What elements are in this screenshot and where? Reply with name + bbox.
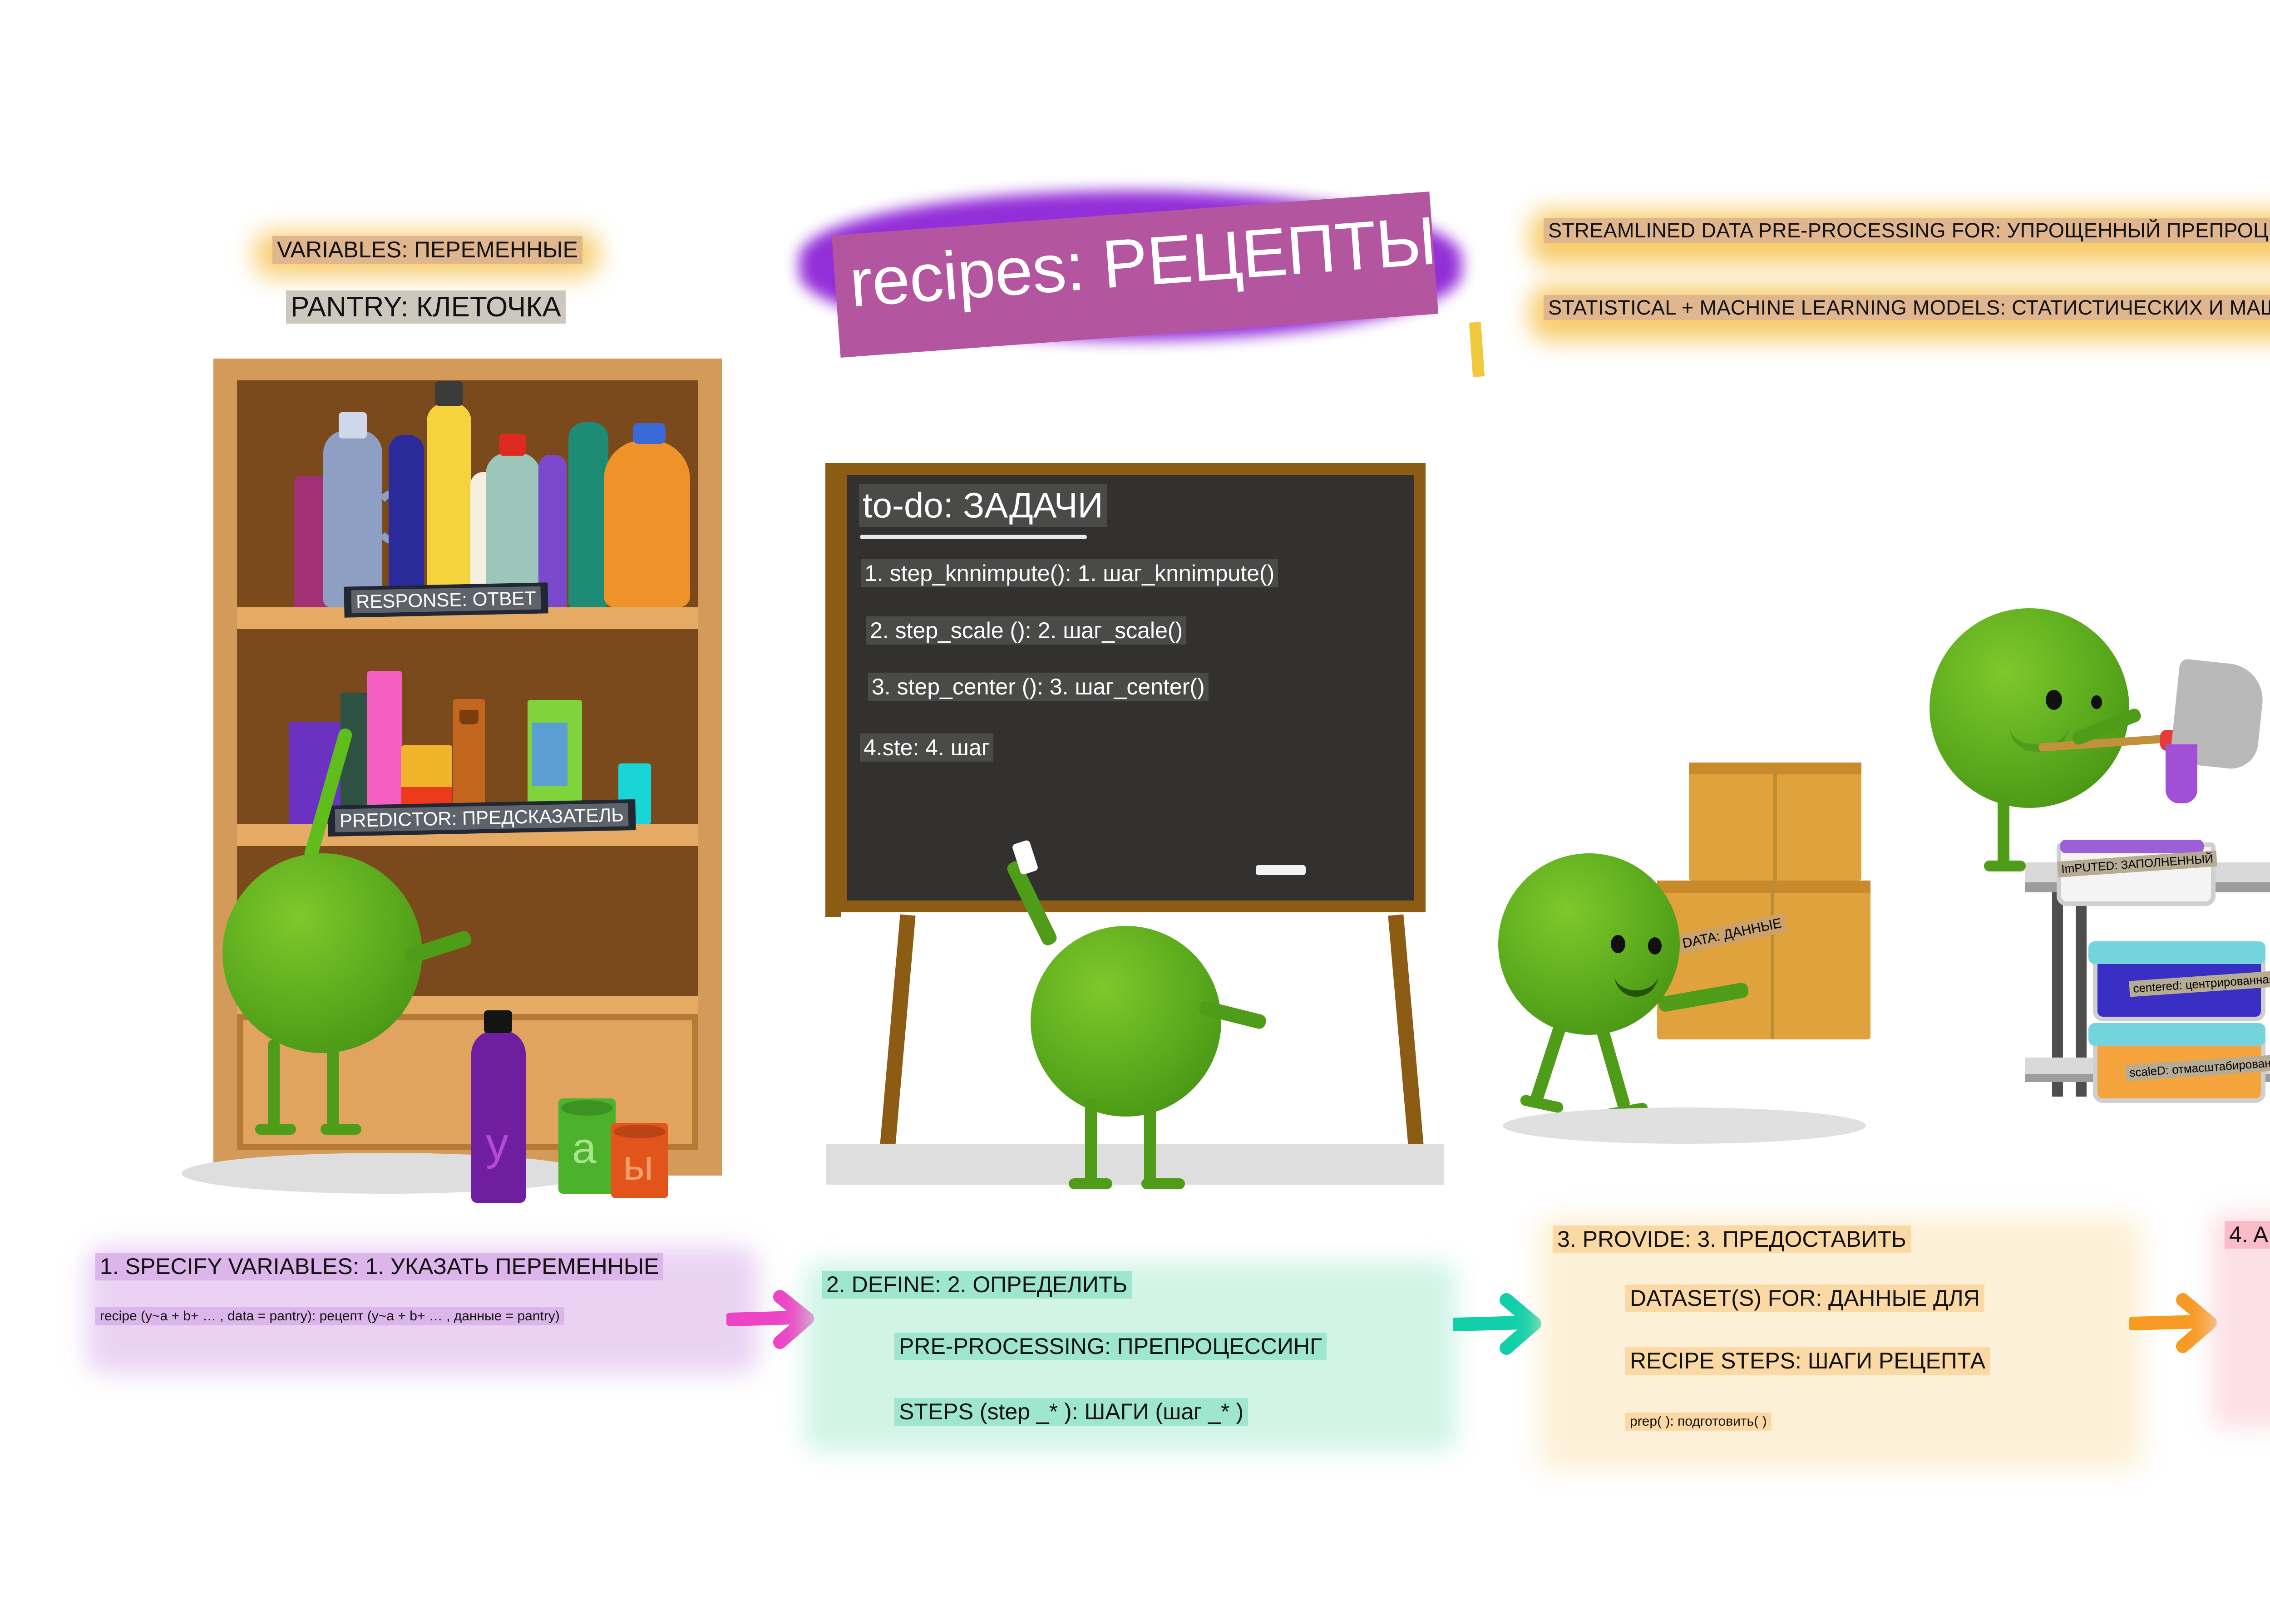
bottle-y-cyrillic: ы xyxy=(611,1123,668,1198)
step-1-line-2: recipe (y~a + b+ … , data = pantry): рец… xyxy=(95,1307,564,1325)
step-3-line-1: 3. PROVIDE: 3. ПРЕДОСТАВИТЬ xyxy=(1553,1225,1911,1253)
pouring-batter xyxy=(2166,744,2197,803)
step-2-line-2: PRE-PROCESSING: ПРЕПРОЦЕССИНГ xyxy=(894,1333,1327,1360)
shelf-label-predictor: PREDICTOR: ПРЕДСКАЗАТЕЛЬ xyxy=(335,803,629,832)
arrow-3-to-4 xyxy=(2129,1284,2220,1362)
variables-label-wrap: VARIABLES: ПЕРЕМЕННЫЕ xyxy=(272,236,582,264)
blackboard-leg-left xyxy=(879,915,915,1151)
bottle-y: y xyxy=(471,1030,526,1203)
character-pantry xyxy=(213,835,459,1180)
blackboard: to-do: ЗАДАЧИ 1. step_knnimpute(): 1. ша… xyxy=(835,463,1426,912)
blackboard-item-3: 3. step_center (): 3. шаг_center() xyxy=(868,673,1209,701)
bottle-letter-yery: ы xyxy=(623,1144,654,1186)
header-right-line-2: STATISTICAL + MACHINE LEARNING MODELS: С… xyxy=(1544,295,2270,320)
container-scaled: scaleD: отмасштабированная xyxy=(2088,1012,2270,1098)
shelf-label-response: RESPONSE: ОТВЕТ xyxy=(351,586,541,614)
blackboard-heading: to-do: ЗАДАЧИ xyxy=(859,484,1107,527)
variables-label: VARIABLES: ПЕРЕМЕННЫЕ xyxy=(272,236,582,264)
pantry-label: PANTRY: КЛЕТОЧКА xyxy=(286,290,566,324)
pantry-label-wrap: PANTRY: КЛЕТОЧКА xyxy=(286,290,566,324)
bottle-letter-a: a xyxy=(572,1127,596,1170)
arrow-2-to-3 xyxy=(1453,1288,1544,1365)
step-2-line-3: STEPS (step _* ): ШАГИ (шаг _* ) xyxy=(894,1398,1248,1426)
blackboard-item-1: 1. step_knnimpute(): 1. шаг_knnimpute() xyxy=(861,559,1278,587)
shelf-plaque-predictor: PREDICTOR: ПРЕДСКАЗАТЕЛЬ xyxy=(327,799,636,837)
blackboard-item-2: 2. step_scale (): 2. шаг_scale() xyxy=(866,616,1186,645)
container-centered: centered: центрированная xyxy=(2088,930,2270,1012)
blackboard-item-4: 4.ste: 4. шаг xyxy=(860,733,993,762)
title-accent-tick xyxy=(1469,322,1485,377)
bottle-a: a xyxy=(558,1098,616,1194)
character-chalkboard xyxy=(1012,899,1267,1189)
step-3-line-4: prep( ): подготовить( ) xyxy=(1625,1412,1772,1431)
step-2-line-1: 2. DEFINE: 2. ОПРЕДЕЛИТЬ xyxy=(822,1271,1132,1299)
infographic-canvas: recipes: РЕЦЕПТЫ STREAMLINED DATA PRE-PR… xyxy=(0,0,2270,1624)
step-4-line-1: 4. APPLY: 4. ПРИМЕНИТЬ xyxy=(2225,1221,2270,1249)
step-1-line-1: 1. SPECIFY VARIABLES: 1. УКАЗАТЬ ПЕРЕМЕН… xyxy=(95,1253,663,1280)
header-right-line-1: STREAMLINED DATA PRE-PROCESSING FOR: УПР… xyxy=(1544,218,2270,243)
step-3-line-3: RECIPE STEPS: ШАГИ РЕЦЕПТА xyxy=(1625,1347,1990,1375)
bottle-letter-y: y xyxy=(486,1121,508,1166)
character-cook xyxy=(1929,608,2211,890)
boxes-shadow xyxy=(1503,1107,1866,1144)
title-block: recipes: РЕЦЕПТЫ xyxy=(799,172,1480,368)
blackboard-heading-underline xyxy=(860,535,1087,539)
blackboard-leg-right xyxy=(1388,915,1424,1151)
step-3-line-2: DATASET(S) FOR: ДАННЫЕ ДЛЯ xyxy=(1625,1284,1984,1312)
shelf-plaque-response: RESPONSE: ОТВЕТ xyxy=(344,582,548,617)
character-delivery xyxy=(1498,853,1734,1135)
chalk-tray-eraser-icon xyxy=(1256,865,1306,875)
